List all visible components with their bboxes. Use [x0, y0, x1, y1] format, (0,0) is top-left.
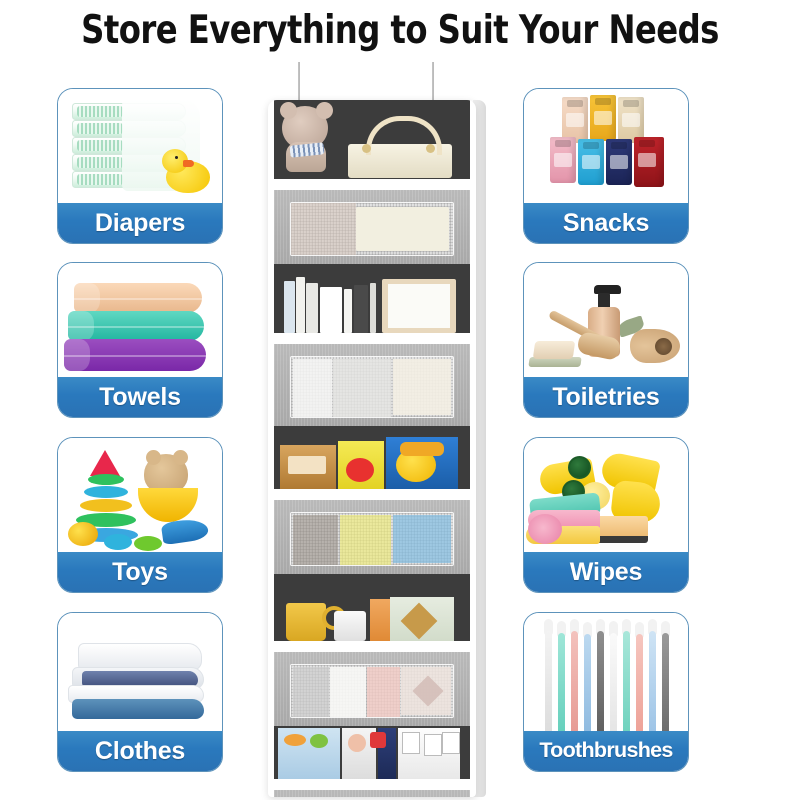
compartment-open-shelf [274, 574, 470, 648]
compartment-open-shelf [274, 726, 470, 786]
hanging-hook-left [298, 62, 300, 102]
card-diapers[interactable]: Diapers [57, 88, 223, 244]
hanging-wall-organizer [256, 62, 486, 797]
compartment-open-shelf [274, 264, 470, 340]
compartment-open-shelf [274, 100, 470, 186]
card-towels[interactable]: Towels [57, 262, 223, 418]
compartment-mesh-pocket [274, 786, 470, 797]
card-label-towels: Towels [58, 377, 222, 417]
card-label-text: Snacks [563, 211, 649, 236]
compartment-mesh-pocket [274, 648, 470, 734]
compartment-open-shelf [274, 426, 470, 496]
card-toiletries[interactable]: Toiletries [523, 262, 689, 418]
card-toys[interactable]: Toys [57, 437, 223, 593]
card-label-text: Toiletries [552, 385, 659, 410]
card-snacks[interactable]: Snacks [523, 88, 689, 244]
organizer-body [268, 100, 476, 797]
card-label-toys: Toys [58, 552, 222, 592]
card-label-toiletries: Toiletries [524, 377, 688, 417]
toothbrushes-image [524, 613, 688, 731]
card-toothbrushes[interactable]: Toothbrushes [523, 612, 689, 772]
card-label-text: Toothbrushes [539, 740, 672, 762]
card-label-text: Clothes [95, 739, 185, 764]
hanging-hook-right [432, 62, 434, 102]
page-title: Store Everything to Suit Your Needs [32, 8, 768, 53]
compartment-mesh-pocket [274, 340, 470, 434]
card-label-toothbrushes: Toothbrushes [524, 731, 688, 771]
compartment-mesh-pocket [274, 186, 470, 272]
card-label-text: Towels [99, 385, 181, 410]
toys-image [58, 438, 222, 552]
card-label-text: Wipes [570, 560, 642, 585]
card-label-text: Toys [112, 560, 168, 585]
card-label-wipes: Wipes [524, 552, 688, 592]
compartment-mesh-pocket [274, 496, 470, 582]
card-label-diapers: Diapers [58, 203, 222, 243]
card-label-text: Diapers [95, 211, 185, 236]
card-wipes[interactable]: Wipes [523, 437, 689, 593]
wipes-image [524, 438, 688, 552]
card-clothes[interactable]: Clothes [57, 612, 223, 772]
diapers-image [58, 89, 222, 203]
card-label-snacks: Snacks [524, 203, 688, 243]
card-label-clothes: Clothes [58, 731, 222, 771]
snacks-image [524, 89, 688, 203]
toiletries-image [524, 263, 688, 377]
clothes-image [58, 613, 222, 731]
towels-image [58, 263, 222, 377]
